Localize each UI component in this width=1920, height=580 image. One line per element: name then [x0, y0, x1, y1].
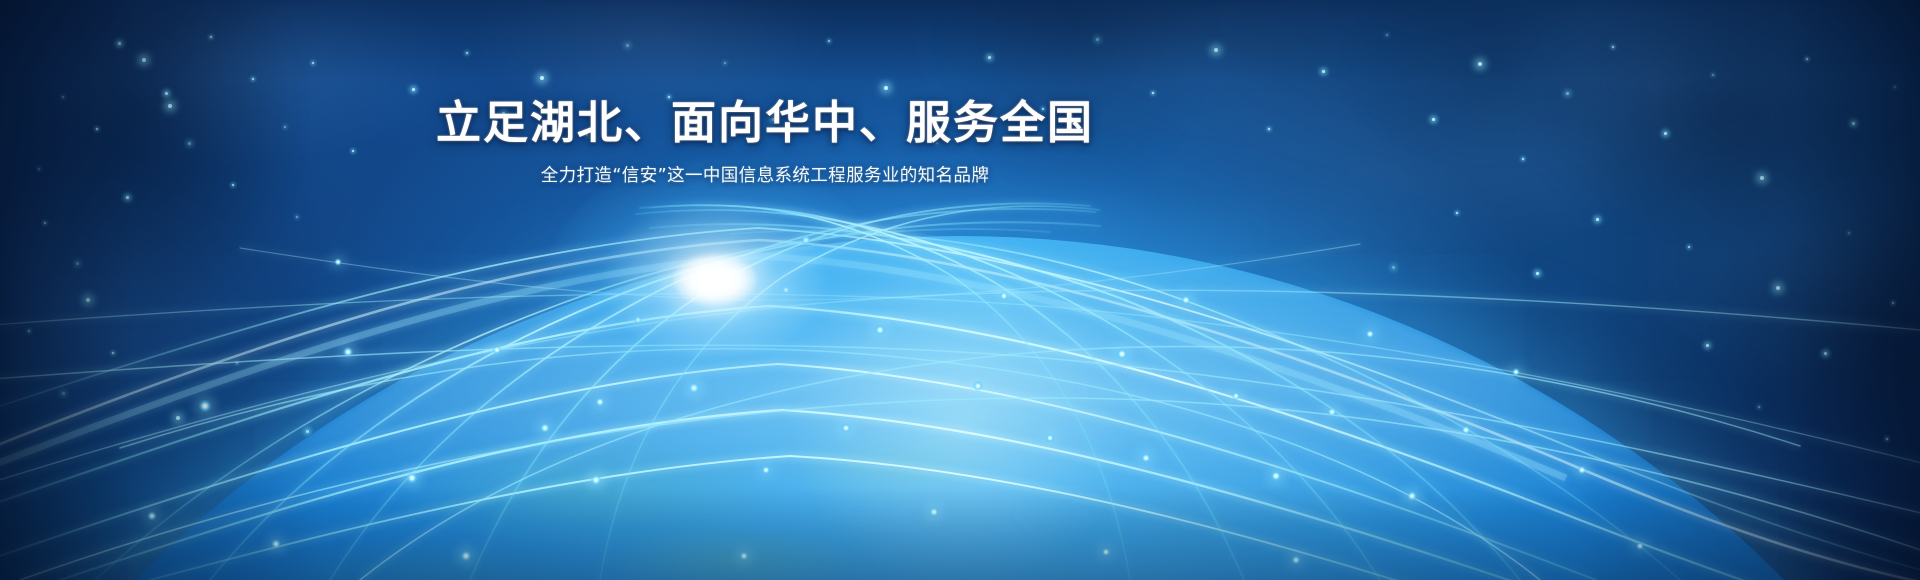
- banner-copy: 立足湖北、面向华中、服务全国 全力打造“信安”这一中国信息系统工程服务业的知名品…: [0, 96, 1530, 189]
- network-chord-lines: [0, 244, 1920, 580]
- globe-limb-curve: [0, 240, 1920, 580]
- hero-banner: 立足湖北、面向华中、服务全国 全力打造“信安”这一中国信息系统工程服务业的知名品…: [0, 0, 1920, 580]
- banner-subline: 全力打造“信安”这一中国信息系统工程服务业的知名品牌: [0, 163, 1530, 189]
- banner-headline: 立足湖北、面向华中、服务全国: [0, 96, 1530, 149]
- network-arc-overlay: [0, 0, 1920, 580]
